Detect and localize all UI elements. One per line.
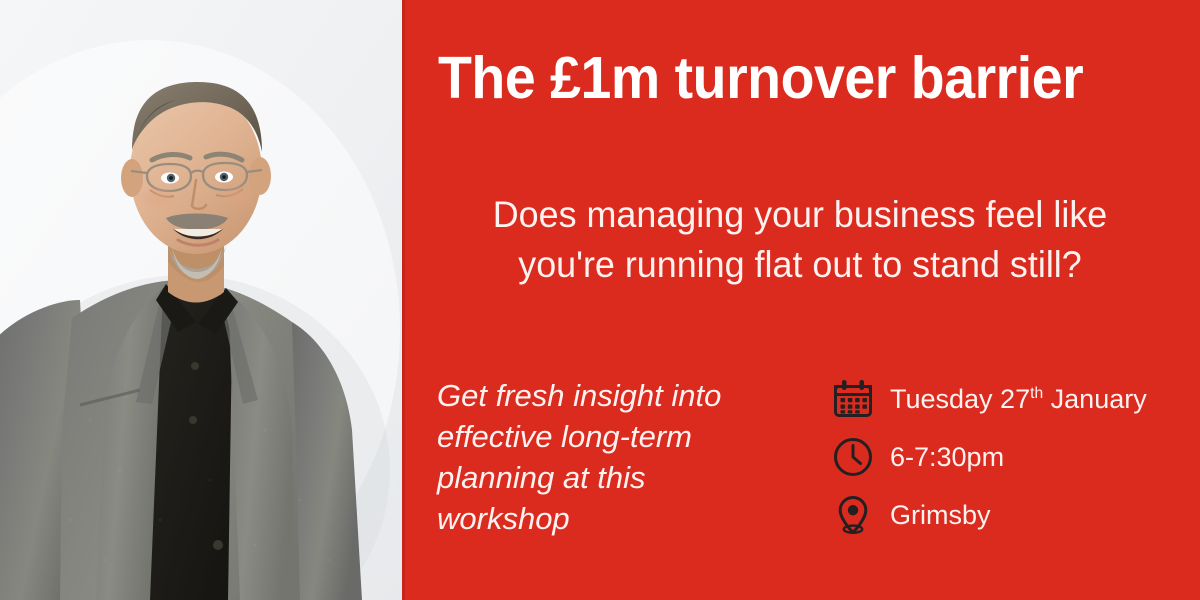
pitch-text: Get fresh insight into effective long-te… <box>437 376 807 540</box>
event-time-text: 6-7:30pm <box>890 444 1004 471</box>
event-detail-time: 6-7:30pm <box>830 428 1200 486</box>
red-content-panel: The £1m turnover barrier Does managing y… <box>402 0 1200 600</box>
event-date-text-main: Tuesday 27 <box>890 384 1030 414</box>
lower-content: Get fresh insight into effective long-te… <box>402 370 1200 570</box>
portrait-photo-panel <box>0 0 402 600</box>
event-location-text: Grimsby <box>890 502 991 529</box>
subtitle-line-2: you're running flat out to stand still? <box>431 240 1168 290</box>
subtitle-line-1: Does managing your business feel like <box>431 190 1168 240</box>
portrait-photo <box>0 0 402 600</box>
pitch-line-1: Get fresh insight into <box>437 376 807 417</box>
pitch-line-2: effective long-term <box>437 417 807 458</box>
event-date-text: Tuesday 27th January <box>890 386 1147 413</box>
clock-icon <box>830 434 876 480</box>
subtitle-block: Does managing your business feel like yo… <box>431 190 1168 289</box>
event-detail-date: Tuesday 27th January <box>830 370 1200 428</box>
pitch-line-3: planning at this <box>437 458 807 499</box>
panel-divider-edge <box>402 0 405 600</box>
location-pin-icon <box>830 492 876 538</box>
event-detail-location: Grimsby <box>830 486 1200 544</box>
page-title: The £1m turnover barrier <box>438 48 1134 110</box>
pitch-line-4: workshop <box>437 499 807 540</box>
event-date-ordinal-suffix: th <box>1030 385 1043 402</box>
calendar-icon <box>830 376 876 422</box>
event-details-list: Tuesday 27th January 6-7:30pm <box>830 370 1200 544</box>
event-banner: The £1m turnover barrier Does managing y… <box>0 0 1200 600</box>
event-date-text-month: January <box>1043 384 1147 414</box>
